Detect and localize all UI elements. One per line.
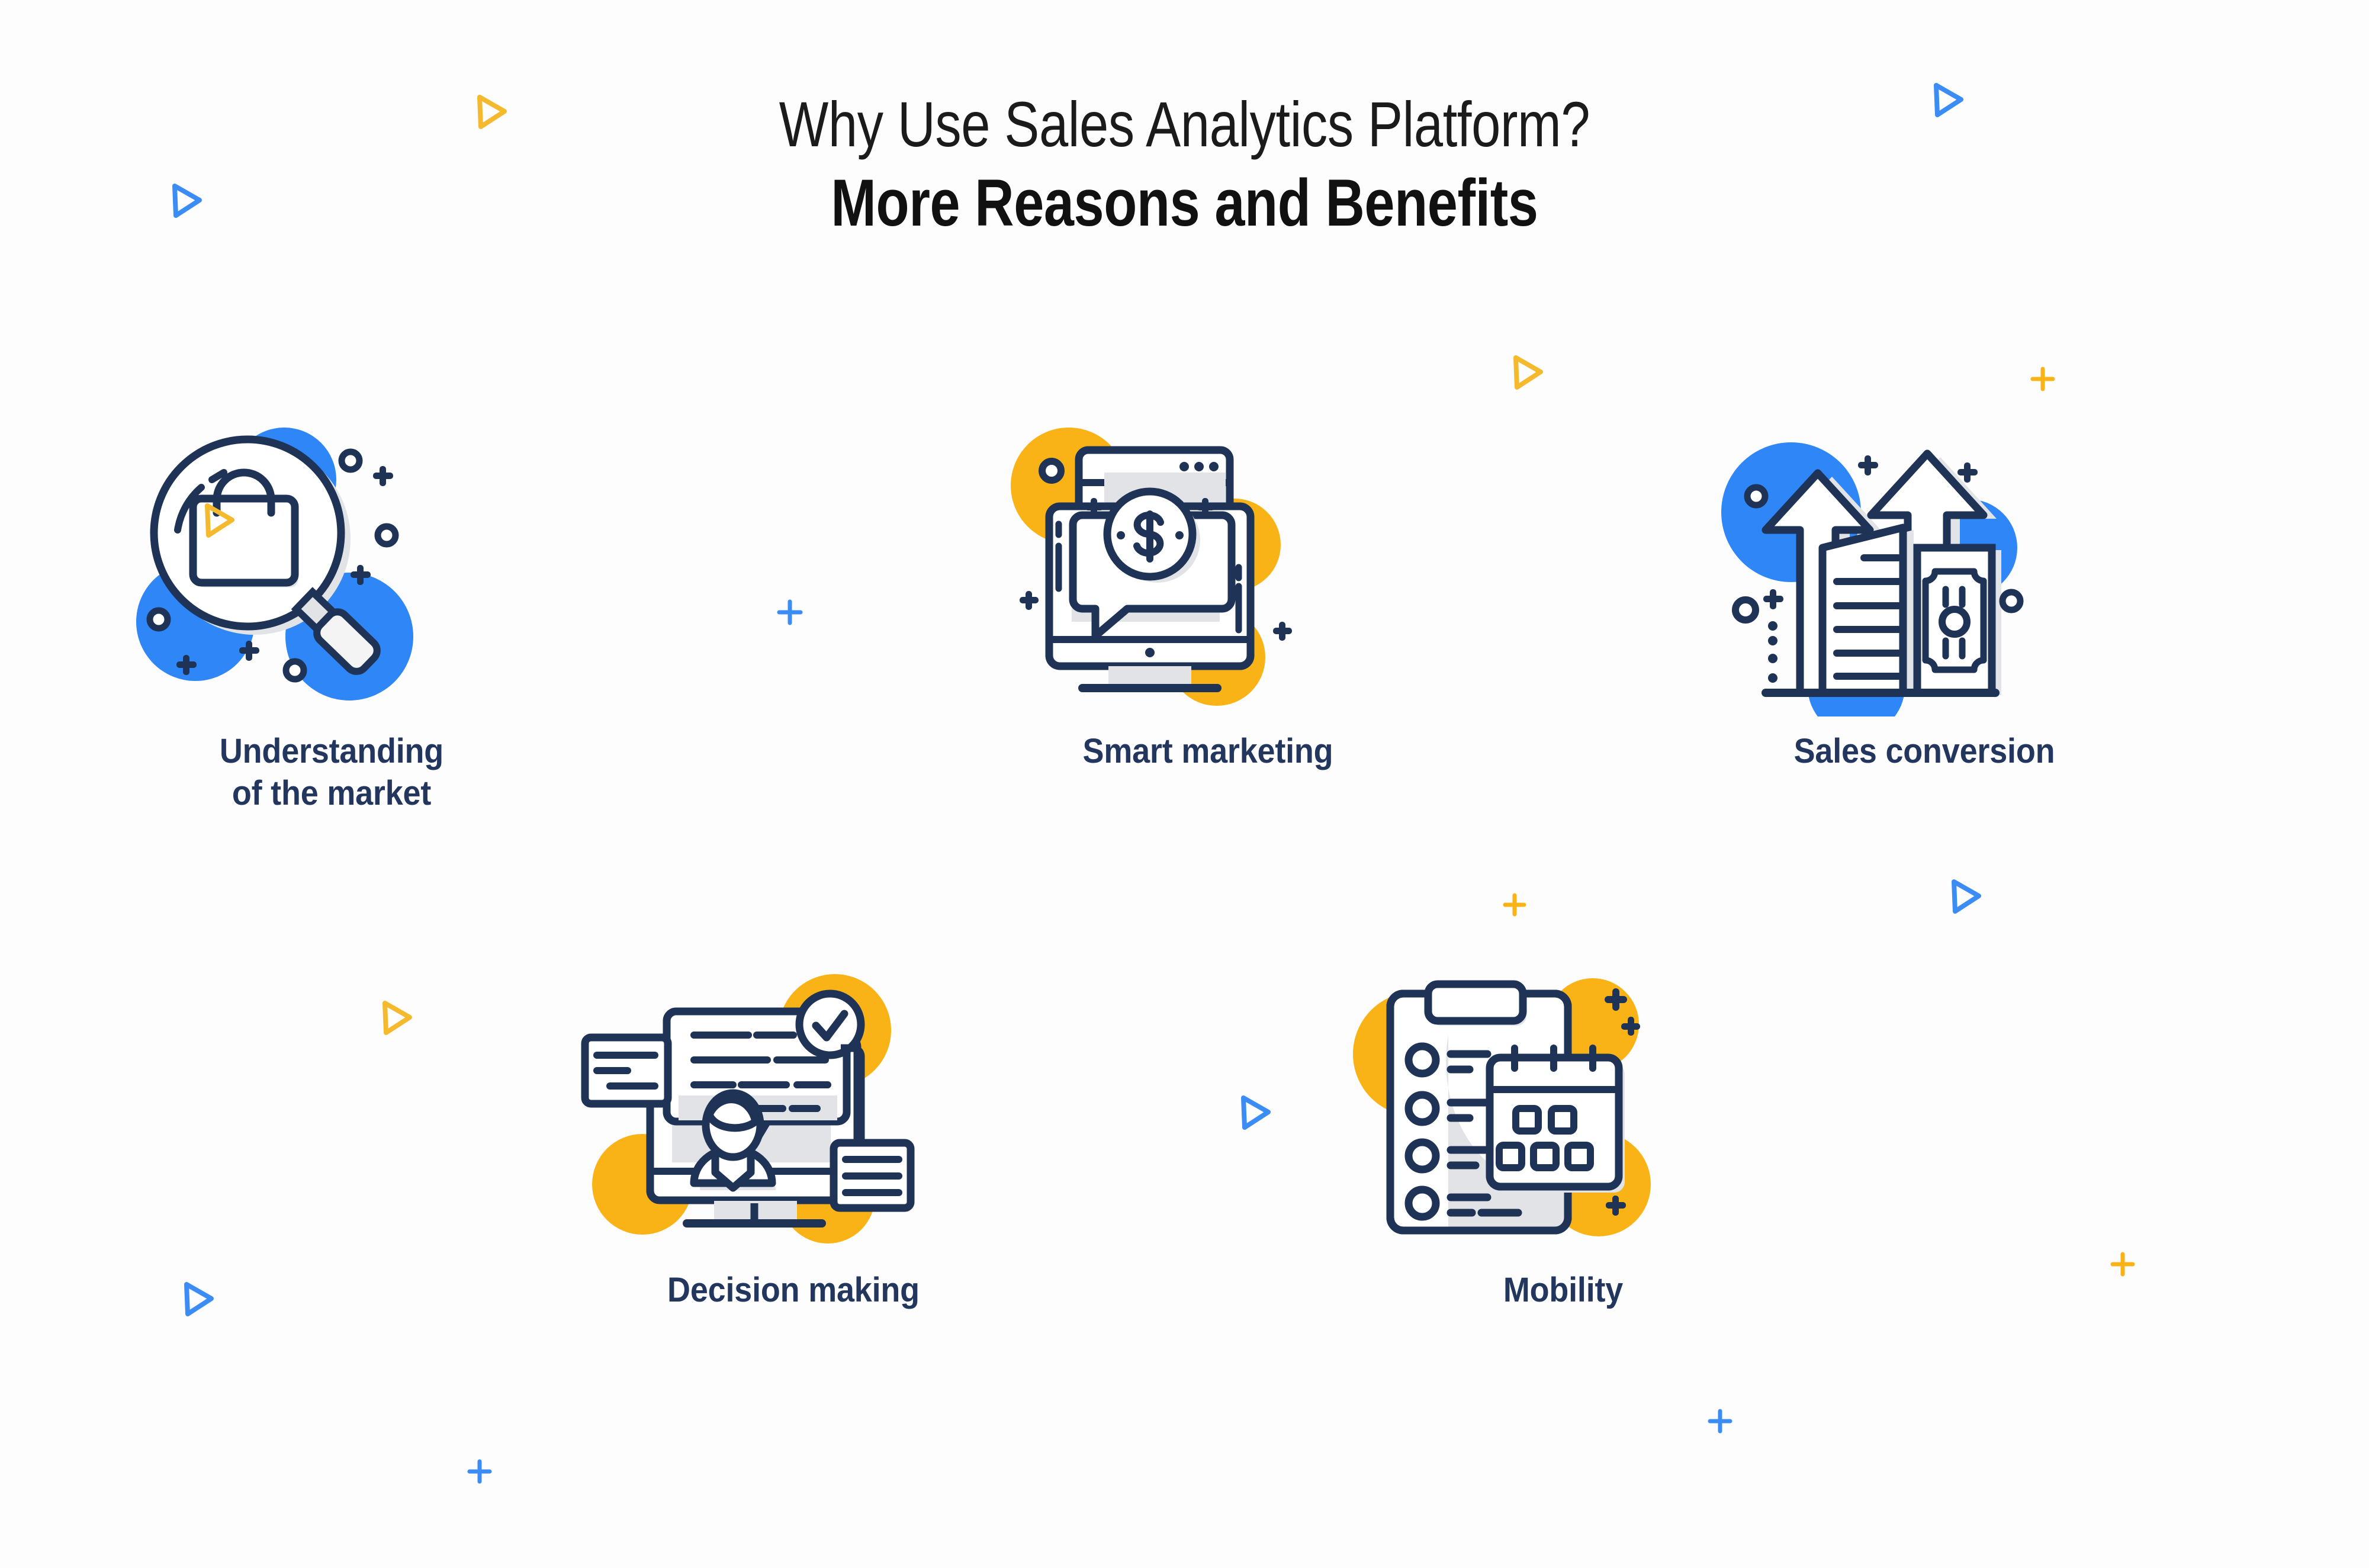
triangle-blue-top-right-icon bbox=[1924, 77, 1971, 123]
triangle-yellow-top-left-icon bbox=[468, 89, 514, 135]
plus-yellow-center-row2-icon bbox=[1501, 891, 1528, 918]
triangle-blue-row2-mid-icon bbox=[1232, 1090, 1278, 1136]
clipboard-calendar-icon bbox=[1338, 947, 1788, 1255]
infographic-canvas: Why Use Sales Analytics Platform? More R… bbox=[0, 0, 2369, 1568]
page-title: Why Use Sales Analytics Platform? More R… bbox=[0, 89, 2369, 242]
benefit-card-decision-making[interactable]: Decision making bbox=[568, 947, 1018, 1312]
growth-arrows-money-icon bbox=[1699, 409, 2149, 716]
monitor-person-approved-icon bbox=[568, 947, 1018, 1255]
monitor-dollar-chat-icon bbox=[983, 409, 1433, 716]
plus-yellow-right-low-icon bbox=[2108, 1249, 2137, 1279]
magnifier-shopping-bag-icon bbox=[107, 409, 557, 716]
benefit-card-smart-marketing[interactable]: Smart marketing bbox=[983, 409, 1433, 773]
triangle-yellow-row2-left-icon bbox=[373, 995, 419, 1041]
triangle-blue-row2-right-icon bbox=[1942, 873, 1988, 920]
benefit-label: Mobility bbox=[1354, 1270, 1773, 1312]
plus-blue-bottom-right-icon bbox=[1705, 1406, 1735, 1436]
title-line-2: More Reasons and Benefits bbox=[213, 165, 2156, 242]
benefit-label: Smart marketing bbox=[999, 731, 1417, 773]
benefit-card-understanding-of-the-market[interactable]: Understanding of the market bbox=[107, 409, 557, 815]
benefit-card-mobility[interactable]: Mobility bbox=[1338, 947, 1788, 1312]
triangle-blue-upper-left-icon bbox=[163, 178, 209, 224]
plus-yellow-upper-right-icon bbox=[2028, 364, 2058, 394]
plus-blue-bottom-left-icon bbox=[465, 1457, 494, 1486]
benefit-label: Understanding of the market bbox=[123, 731, 541, 815]
plus-blue-between-cards-icon bbox=[774, 597, 805, 628]
benefit-label: Sales conversion bbox=[1715, 731, 2134, 773]
title-line-1: Why Use Sales Analytics Platform? bbox=[213, 89, 2156, 160]
benefit-card-sales-conversion[interactable]: Sales conversion bbox=[1699, 409, 2149, 773]
triangle-yellow-center-icon bbox=[1504, 349, 1550, 396]
triangle-blue-bottom-left-icon bbox=[175, 1276, 221, 1322]
benefit-label: Decision making bbox=[584, 1270, 1003, 1312]
